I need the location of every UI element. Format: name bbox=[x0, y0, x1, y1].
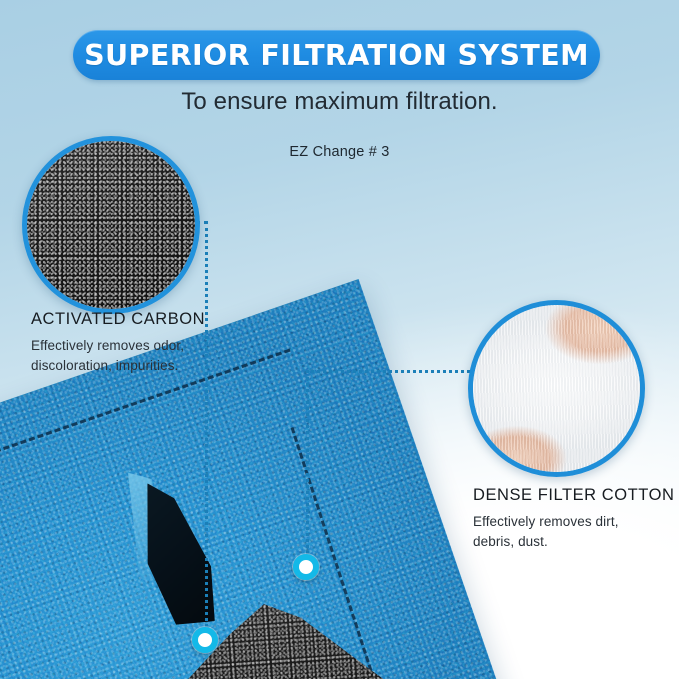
tear-opening-lip bbox=[114, 467, 178, 592]
callout-activated-carbon: ACTIVATED CARBON Effectively removes odo… bbox=[31, 310, 205, 375]
callout-body-dense-filter-cotton: Effectively removes dirt, debris, dust. bbox=[473, 512, 674, 551]
activated-carbon-granules-image bbox=[27, 141, 195, 309]
dense-filter-cotton-image bbox=[473, 305, 640, 472]
connector-line-cotton-vertical bbox=[306, 370, 309, 560]
page-subtitle: To ensure maximum filtration. bbox=[0, 88, 679, 116]
hotspot-dot-cotton[interactable] bbox=[293, 554, 319, 580]
cotton-fiber-texture bbox=[473, 305, 640, 472]
lens-activated-carbon bbox=[22, 136, 200, 314]
connector-line-cotton-horizontal bbox=[306, 370, 470, 373]
callout-body-line-1: Effectively removes odor, bbox=[31, 336, 205, 356]
title-banner: SUPERIOR FILTRATION SYSTEM bbox=[73, 30, 600, 80]
callout-body-line-2: discoloration, impurities. bbox=[31, 356, 205, 376]
callout-heading-activated-carbon: ACTIVATED CARBON bbox=[31, 310, 205, 329]
callout-dense-filter-cotton: DENSE FILTER COTTON Effectively removes … bbox=[473, 486, 674, 551]
carbon-granule-spill bbox=[72, 534, 487, 679]
infographic-canvas: SUPERIOR FILTRATION SYSTEM To ensure max… bbox=[0, 0, 679, 679]
callout-body-line-1: Effectively removes dirt, bbox=[473, 512, 674, 532]
lens-dense-filter-cotton bbox=[468, 300, 645, 477]
callout-body-line-2: debris, dust. bbox=[473, 532, 674, 552]
tear-opening-flap bbox=[121, 471, 235, 636]
callout-body-activated-carbon: Effectively removes odor, discoloration,… bbox=[31, 336, 205, 375]
hotspot-dot-carbon[interactable] bbox=[192, 627, 218, 653]
callout-heading-dense-filter-cotton: DENSE FILTER COTTON bbox=[473, 486, 674, 505]
product-photo-filter-pad bbox=[0, 330, 480, 679]
connector-line-carbon-vertical bbox=[205, 221, 208, 633]
page-title: SUPERIOR FILTRATION SYSTEM bbox=[84, 39, 589, 72]
